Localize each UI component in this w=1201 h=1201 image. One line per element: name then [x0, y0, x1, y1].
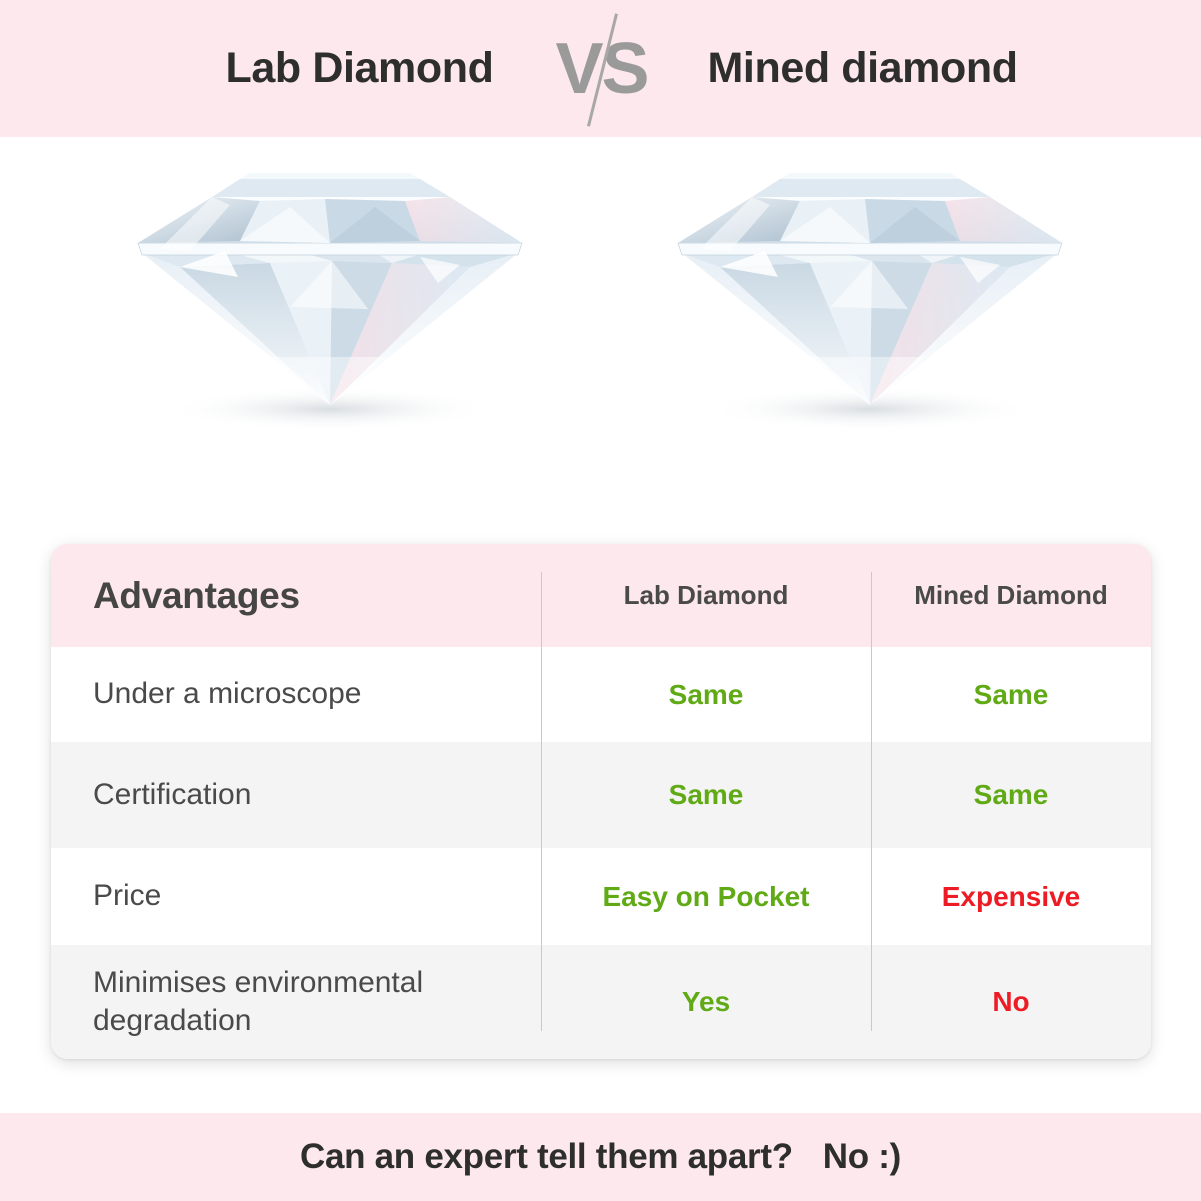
table-header-row: Advantages Lab Diamond Mined Diamond	[51, 544, 1151, 647]
table-row: Price Easy on Pocket Expensive	[51, 848, 1151, 945]
header-title-mined: Mined diamond	[650, 47, 1138, 90]
footer-answer: No :)	[823, 1137, 901, 1177]
table-row: Minimises environmental degradation Yes …	[51, 945, 1151, 1059]
comparison-table: Advantages Lab Diamond Mined Diamond Und…	[51, 544, 1151, 1059]
table-header-lab-diamond: Lab Diamond	[541, 580, 871, 611]
header-titles-row: Lab Diamond VS Mined diamond	[0, 10, 1201, 128]
mined-diamond-image	[660, 157, 1080, 487]
row-lab-value: Easy on Pocket	[541, 881, 871, 913]
row-feature-label: Certification	[51, 776, 541, 814]
diamond-image-area	[0, 137, 1201, 527]
row-lab-value: Yes	[541, 986, 871, 1018]
header-band: Lab Diamond VS Mined diamond	[0, 0, 1201, 137]
row-feature-label: Under a microscope	[51, 675, 541, 713]
table-header-advantages: Advantages	[51, 572, 541, 619]
table-row: Certification Same Same	[51, 742, 1151, 848]
row-mined-value: No	[871, 986, 1151, 1018]
footer-band: Can an expert tell them apart? No :)	[0, 1113, 1201, 1201]
table-header-mined-diamond: Mined Diamond	[871, 580, 1151, 611]
footer-question: Can an expert tell them apart?	[300, 1137, 793, 1177]
lab-diamond-image	[120, 157, 540, 487]
row-mined-value: Same	[871, 779, 1151, 811]
column-divider-1	[541, 572, 542, 1031]
row-lab-value: Same	[541, 679, 871, 711]
comparison-table-card: Advantages Lab Diamond Mined Diamond Und…	[51, 544, 1151, 1059]
row-lab-value: Same	[541, 779, 871, 811]
header-title-lab: Lab Diamond	[64, 47, 554, 90]
row-mined-value: Same	[871, 679, 1151, 711]
row-mined-value: Expensive	[871, 881, 1151, 913]
row-feature-label: Minimises environmental degradation	[51, 964, 541, 1041]
row-feature-label: Price	[51, 877, 541, 915]
column-divider-2	[871, 572, 872, 1031]
versus-badge: VS	[554, 10, 650, 128]
table-row: Under a microscope Same Same	[51, 647, 1151, 742]
